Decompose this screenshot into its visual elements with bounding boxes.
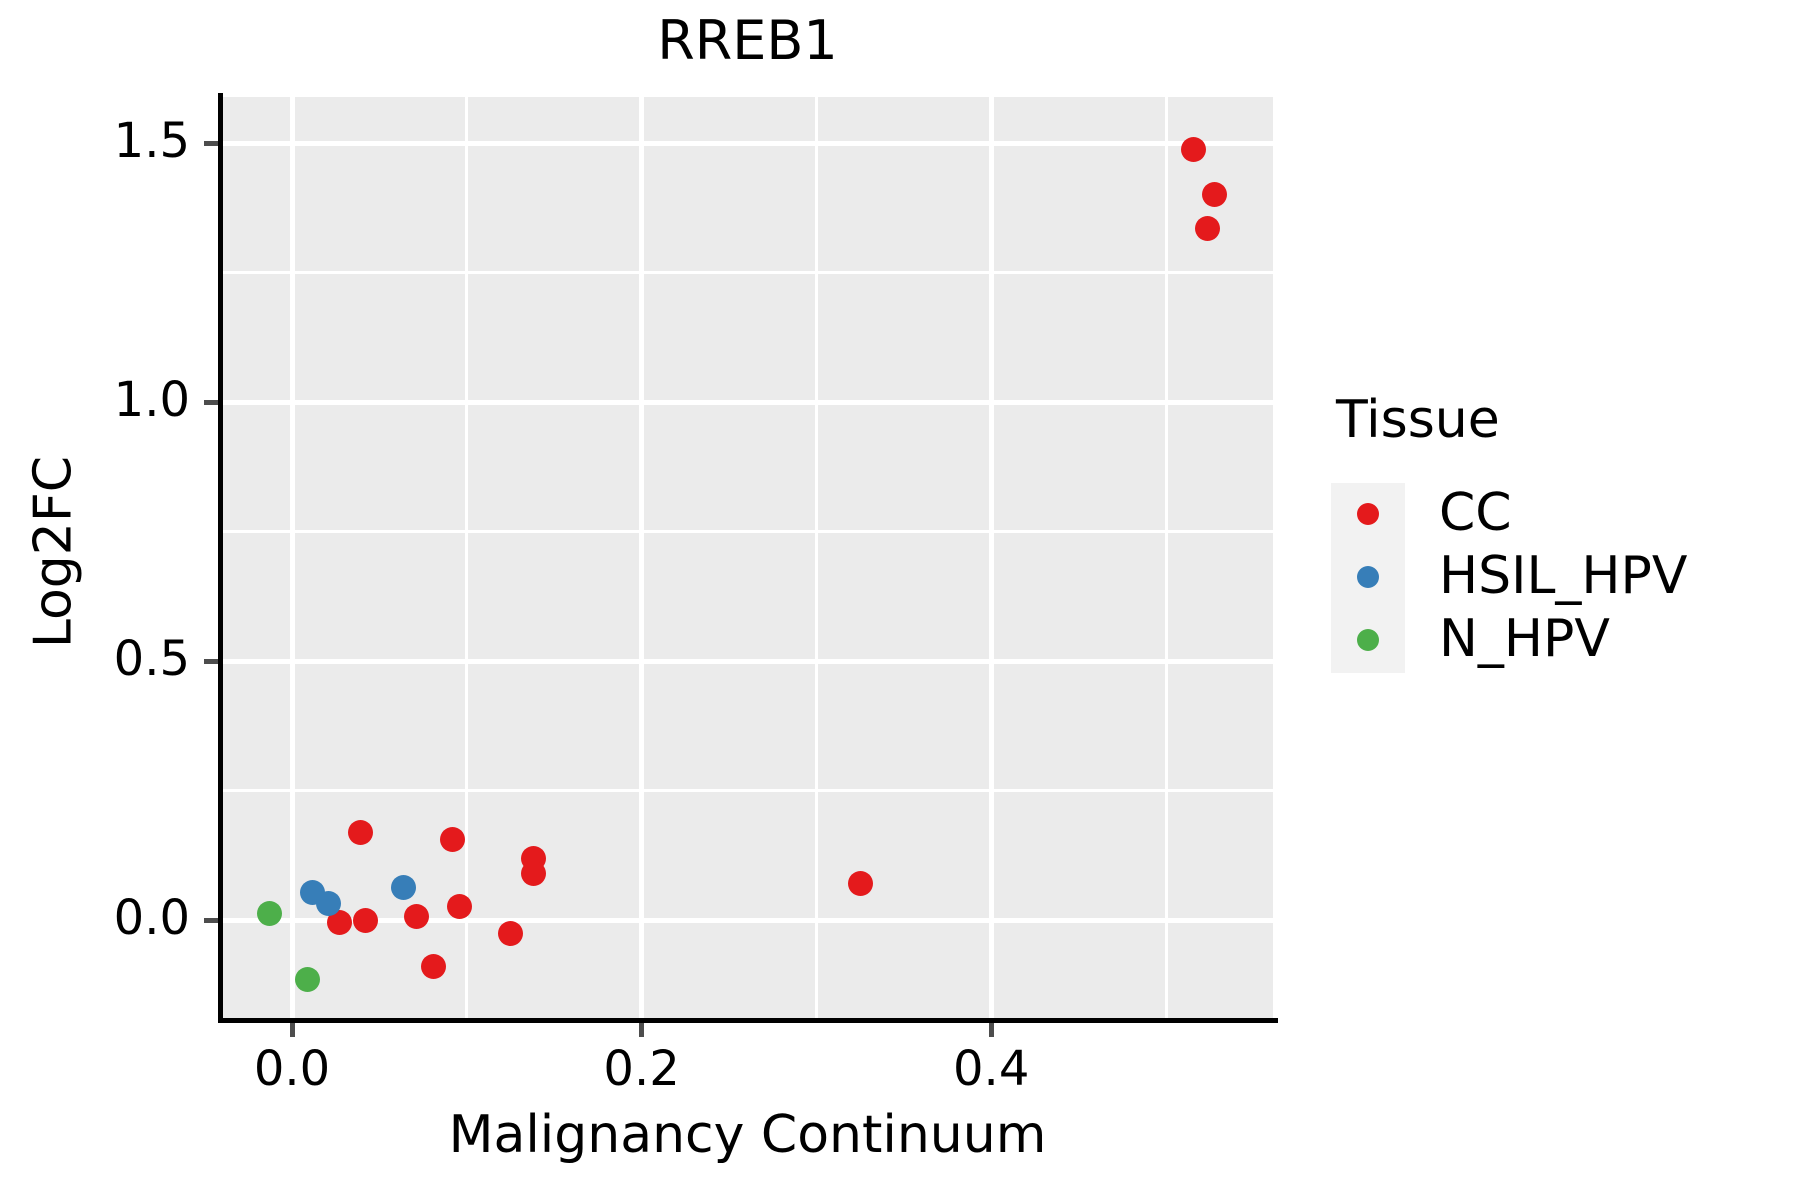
gridline-horizontal — [222, 400, 1273, 405]
x-tick-mark — [989, 1023, 994, 1037]
legend-item-label: HSIL_HPV — [1439, 544, 1687, 608]
data-point — [295, 967, 320, 992]
legend-item-n_hpv[interactable]: N_HPV — [1331, 609, 1800, 672]
legend-item-hsil_hpv[interactable]: HSIL_HPV — [1331, 546, 1800, 609]
legend-item-cc[interactable]: CC — [1331, 483, 1800, 546]
legend-title: Tissue — [1336, 390, 1500, 450]
data-point — [440, 827, 465, 852]
gridline-horizontal — [222, 659, 1273, 664]
x-tick-mark — [639, 1023, 644, 1037]
data-point — [348, 820, 373, 845]
y-tick-label: 0.0 — [114, 894, 190, 942]
gridline-vertical — [1165, 97, 1168, 1018]
x-tick-label: 0.0 — [192, 1045, 392, 1093]
x-tick-label: 0.4 — [891, 1045, 1091, 1093]
y-tick-label: 1.5 — [114, 117, 190, 165]
data-point — [1181, 137, 1206, 162]
legend-swatch — [1331, 609, 1405, 672]
gridline-vertical — [989, 97, 994, 1018]
data-point — [257, 901, 282, 926]
data-point — [1202, 182, 1227, 207]
y-tick-mark — [204, 141, 218, 146]
y-tick-mark — [204, 400, 218, 405]
page-title: RREB1 — [222, 6, 1273, 76]
data-point — [353, 908, 378, 933]
legend-swatch — [1331, 546, 1405, 609]
y-tick-mark — [204, 918, 218, 923]
legend-item-label: N_HPV — [1439, 607, 1610, 671]
y-tick-label: 0.5 — [114, 635, 190, 683]
x-axis-title: Malignancy Continuum — [222, 1105, 1273, 1165]
gridline-vertical — [815, 97, 818, 1018]
x-tick-label: 0.2 — [542, 1045, 742, 1093]
gridline-vertical — [290, 97, 295, 1018]
legend-dot-icon — [1357, 503, 1379, 525]
gridline-horizontal — [222, 530, 1273, 533]
gridline-vertical — [465, 97, 468, 1018]
data-point — [404, 904, 429, 929]
chart-root: RREB1 0.00.51.01.5 0.00.20.4 Malignancy … — [0, 0, 1800, 1200]
data-point — [391, 875, 416, 900]
legend-swatch — [1331, 483, 1405, 546]
y-axis-title: Log2FC — [24, 92, 84, 1013]
gridline-horizontal — [222, 271, 1273, 274]
legend-item-label: CC — [1439, 481, 1512, 545]
data-point — [1195, 216, 1220, 241]
y-axis-line — [218, 93, 223, 1022]
gridline-horizontal — [222, 918, 1273, 923]
data-point — [447, 894, 472, 919]
data-point — [521, 861, 546, 886]
data-point — [848, 871, 873, 896]
gridline-horizontal — [222, 789, 1273, 792]
data-point — [498, 921, 523, 946]
y-tick-label: 1.0 — [114, 376, 190, 424]
y-tick-mark — [204, 659, 218, 664]
gridline-vertical — [639, 97, 644, 1018]
legend-dot-icon — [1357, 629, 1379, 651]
gridline-horizontal — [222, 141, 1273, 146]
legend-dot-icon — [1357, 566, 1379, 588]
x-tick-mark — [290, 1023, 295, 1037]
plot-panel — [222, 97, 1273, 1018]
data-point — [421, 954, 446, 979]
x-axis-line — [218, 1018, 1278, 1023]
